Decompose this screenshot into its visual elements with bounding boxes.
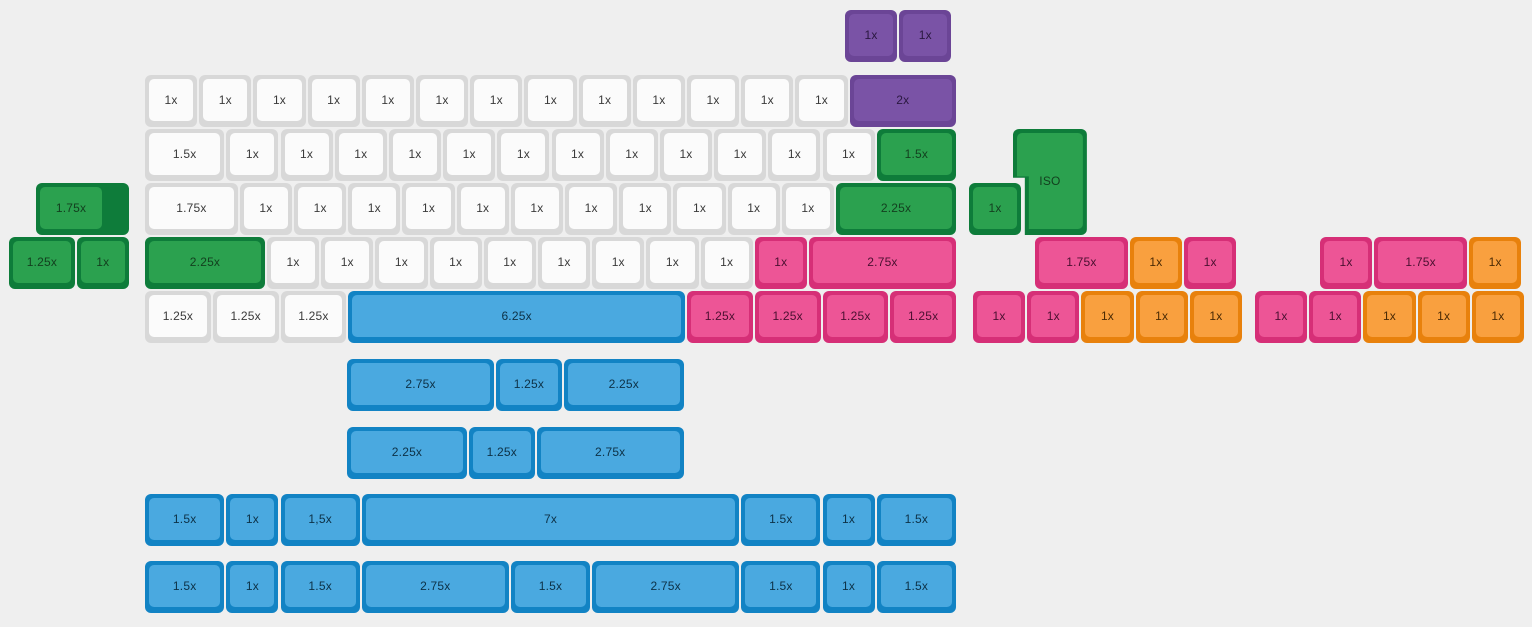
key-1x-cap-face: 1x xyxy=(1134,241,1178,283)
key-2-75x[interactable]: 2.75x xyxy=(592,561,739,613)
key-1x-cap-face: 1x xyxy=(1194,295,1238,337)
key-1-25x-cap-face: 1.25x xyxy=(691,295,749,337)
key-1x-cap-face: 1x xyxy=(827,565,871,607)
key-2-75x-cap-face: 2.75x xyxy=(596,565,735,607)
key-1x[interactable]: 1x xyxy=(470,75,522,127)
key-1-25x-cap-face: 1.25x xyxy=(217,295,275,337)
key-1-75x[interactable]: 1.75x xyxy=(1035,237,1128,289)
key-1x[interactable]: 1x xyxy=(633,75,685,127)
key-2x[interactable]: 2x xyxy=(850,75,956,127)
key-1-25x[interactable]: 1.25x xyxy=(496,359,562,411)
key-1x-cap-face: 1x xyxy=(650,241,694,283)
key-1x[interactable]: 1x xyxy=(375,237,427,289)
key-1x[interactable]: 1x xyxy=(1309,291,1361,343)
key-1x[interactable]: 1x xyxy=(538,237,590,289)
key-2-25x[interactable]: 2.25x xyxy=(836,183,956,235)
key-1x-cap-face: 1x xyxy=(285,133,329,175)
key-1x-cap-face: 1x xyxy=(366,79,410,121)
key-1-25x-cap-face: 1.25x xyxy=(149,295,207,337)
key-1x-cap-face: 1x xyxy=(973,187,1017,229)
key-1x-cap-face: 1x xyxy=(1031,295,1075,337)
key-1x[interactable]: 1x xyxy=(497,129,549,181)
key-1x[interactable]: 1x xyxy=(1320,237,1372,289)
key-1-5x-cap-face: 1.5x xyxy=(515,565,586,607)
key-1x-cap-face: 1x xyxy=(903,14,947,56)
key-1x-cap-face: 1x xyxy=(1476,295,1520,337)
key-1-25x[interactable]: 1.25x xyxy=(9,237,75,289)
key-1x[interactable]: 1x xyxy=(145,75,197,127)
key-2x-cap-face: 2x xyxy=(854,79,952,121)
key-1x-cap-face: 1x xyxy=(379,241,423,283)
key-1-25x[interactable]: 1.25x xyxy=(145,291,211,343)
key-1x-cap-face: 1x xyxy=(718,133,762,175)
key-1x-cap-face: 1x xyxy=(849,14,893,56)
key-1x-cap-face: 1x xyxy=(474,79,518,121)
key-1-5x[interactable]: 1.5x xyxy=(877,561,956,613)
key-1x-cap-face: 1x xyxy=(583,79,627,121)
key-1-5x[interactable]: 1.5x xyxy=(511,561,590,613)
key-1x[interactable]: 1x xyxy=(741,75,793,127)
key-1x[interactable]: 1x xyxy=(457,183,509,235)
key-1x[interactable]: 1x xyxy=(728,183,780,235)
key-1x-cap-face: 1x xyxy=(325,241,369,283)
key-1x-cap-face: 1x xyxy=(1188,241,1232,283)
key-1x-cap-face: 1x xyxy=(312,79,356,121)
key-1x[interactable]: 1x xyxy=(308,75,360,127)
key-1-25x-cap-face: 1.25x xyxy=(827,295,885,337)
key-1x[interactable]: 1x xyxy=(1418,291,1470,343)
key-1x[interactable]: 1x xyxy=(253,75,305,127)
key-1-25x[interactable]: 1.25x xyxy=(469,427,535,479)
key-1x-cap-face: 1x xyxy=(339,133,383,175)
key-1x-cap-face: 1x xyxy=(1313,295,1357,337)
key-1-5x-cap-face: 1.5x xyxy=(149,498,220,540)
key-1x[interactable]: 1x xyxy=(552,129,604,181)
key-1x[interactable]: 1x xyxy=(592,237,644,289)
key-1x[interactable]: 1x xyxy=(579,75,631,127)
key-1x-cap-face: 1x xyxy=(637,79,681,121)
key-1-75x-stepped[interactable]: 1.75x xyxy=(36,183,129,235)
key-1x[interactable]: 1x xyxy=(823,129,875,181)
key-1x[interactable]: 1x xyxy=(795,75,847,127)
key-1-5x-cap-face: 1.5x xyxy=(881,133,952,175)
key-1x-cap-face: 1x xyxy=(230,498,274,540)
key-1x[interactable]: 1x xyxy=(511,183,563,235)
key-1x-cap-face: 1x xyxy=(664,133,708,175)
key-1x[interactable]: 1x xyxy=(660,129,712,181)
key-1x-cap-face: 1x xyxy=(1259,295,1303,337)
key-1x-cap-face: 1x xyxy=(420,79,464,121)
key-1-25x-cap-face: 1.25x xyxy=(13,241,71,283)
key-1x-cap-face: 1x xyxy=(244,187,288,229)
key-2-25x[interactable]: 2.25x xyxy=(145,237,265,289)
key-2-75x-cap-face: 2.75x xyxy=(351,363,490,405)
key-1-75x-cap-face: 1.75x xyxy=(1378,241,1463,283)
key-1-75x[interactable]: 1.75x xyxy=(1374,237,1467,289)
key-2-75x[interactable]: 2.75x xyxy=(537,427,684,479)
key-1x[interactable]: 1x xyxy=(267,237,319,289)
key-1x[interactable]: 1x xyxy=(281,129,333,181)
key-1-5x[interactable]: 1.5x xyxy=(741,494,820,546)
key-1x-cap-face: 1x xyxy=(556,133,600,175)
key-1-25x-cap-face: 1.25x xyxy=(894,295,952,337)
key-1x[interactable]: 1x xyxy=(1472,291,1524,343)
key-2-75x-cap-face: 2.75x xyxy=(813,241,952,283)
key-7x-cap-face: 7x xyxy=(366,498,735,540)
key-1-5x[interactable]: 1,5x xyxy=(281,494,360,546)
key-1x[interactable]: 1x xyxy=(1081,291,1133,343)
key-1-25x-cap-face: 1.25x xyxy=(473,431,531,473)
key-1x-cap-face: 1x xyxy=(1422,295,1466,337)
key-1x[interactable]: 1x xyxy=(199,75,251,127)
key-2-25x[interactable]: 2.25x xyxy=(347,427,467,479)
key-1x[interactable]: 1x xyxy=(823,561,875,613)
key-1-5x-cap-face: 1.5x xyxy=(745,498,816,540)
key-6-25x-cap-face: 6.25x xyxy=(352,295,681,337)
key-2-25x-cap-face: 2.25x xyxy=(840,187,952,229)
key-1-75x[interactable]: 1.75x xyxy=(145,183,238,235)
key-1x[interactable]: 1x xyxy=(1363,291,1415,343)
key-1x[interactable]: 1x xyxy=(226,561,278,613)
key-1x-cap-face: 1x xyxy=(447,133,491,175)
key-1x[interactable]: 1x xyxy=(1190,291,1242,343)
key-1x[interactable]: 1x xyxy=(1184,237,1236,289)
key-2-25x-cap-face: 2.25x xyxy=(568,363,680,405)
key-1x[interactable]: 1x xyxy=(1255,291,1307,343)
key-1-5x[interactable]: 1.5x xyxy=(877,129,956,181)
key-1x[interactable]: 1x xyxy=(606,129,658,181)
key-1x-cap-face: 1x xyxy=(542,241,586,283)
key-1x-cap-face: 1x xyxy=(406,187,450,229)
key-1x[interactable]: 1x xyxy=(443,129,495,181)
key-1x-cap-face: 1x xyxy=(203,79,247,121)
key-1x[interactable]: 1x xyxy=(226,494,278,546)
key-1x[interactable]: 1x xyxy=(768,129,820,181)
key-1x[interactable]: 1x xyxy=(1469,237,1521,289)
key-1x[interactable]: 1x xyxy=(484,237,536,289)
key-1x-cap-face: 1x xyxy=(230,133,274,175)
key-1x-cap-face: 1x xyxy=(1085,295,1129,337)
key-1x-cap-face: 1x xyxy=(515,187,559,229)
key-1-25x[interactable]: 1.25x xyxy=(281,291,347,343)
key-1-25x-cap-face: 1.25x xyxy=(759,295,817,337)
key-1x-cap-face: 1x xyxy=(799,79,843,121)
key-1x-cap-face: 1x xyxy=(677,187,721,229)
key-1x[interactable]: 1x xyxy=(226,129,278,181)
key-1x-cap-face: 1x xyxy=(1140,295,1184,337)
key-1x[interactable]: 1x xyxy=(845,10,897,62)
key-1-5x[interactable]: 1.5x xyxy=(145,494,224,546)
key-1-5x[interactable]: 1.5x xyxy=(281,561,360,613)
key-1x-cap-face: 1x xyxy=(352,187,396,229)
key-1x-cap-face: 1x xyxy=(393,133,437,175)
key-1-25x[interactable]: 1.25x xyxy=(213,291,279,343)
key-1x[interactable]: 1x xyxy=(899,10,951,62)
key-1-5x-cap-face: 1.5x xyxy=(149,565,220,607)
key-1-5x[interactable]: 1.5x xyxy=(145,129,224,181)
key-1x-cap-face: 1x xyxy=(610,133,654,175)
key-1x-cap-face: 1x xyxy=(230,565,274,607)
key-1x-cap-face: 1x xyxy=(759,241,803,283)
key-1-25x[interactable]: 1.25x xyxy=(755,291,821,343)
key-1x[interactable]: 1x xyxy=(755,237,807,289)
key-6-25x[interactable]: 6.25x xyxy=(348,291,685,343)
key-2-75x-cap-face: 2.75x xyxy=(366,565,505,607)
key-1x[interactable]: 1x xyxy=(77,237,129,289)
key-2-75x[interactable]: 2.75x xyxy=(362,561,509,613)
key-1x-cap-face: 1x xyxy=(461,187,505,229)
key-1-5x[interactable]: 1.5x xyxy=(741,561,820,613)
key-1x-cap-face: 1x xyxy=(691,79,735,121)
key-1x[interactable]: 1x xyxy=(673,183,725,235)
key-1x[interactable]: 1x xyxy=(646,237,698,289)
key-1x[interactable]: 1x xyxy=(1130,237,1182,289)
key-1x[interactable]: 1x xyxy=(1136,291,1188,343)
key-1-25x[interactable]: 1.25x xyxy=(823,291,889,343)
key-1x-cap-face: 1x xyxy=(434,241,478,283)
key-1x-cap-face: 1x xyxy=(827,133,871,175)
key-1-5x[interactable]: 1.5x xyxy=(145,561,224,613)
key-1-5x-cap-face: 1.5x xyxy=(285,565,356,607)
key-1x[interactable]: 1x xyxy=(973,291,1025,343)
keycap-layout-canvas: 1x1x1x1x1x1x1x1x1x1x1x1x1x1x1x2x1.5x1x1x… xyxy=(0,0,1532,627)
key-1x-cap-face: 1x xyxy=(528,79,572,121)
key-1-5x-cap-face: 1,5x xyxy=(285,498,356,540)
key-2-25x[interactable]: 2.25x xyxy=(564,359,684,411)
key-1x[interactable]: 1x xyxy=(335,129,387,181)
key-1x-cap-face: 1x xyxy=(977,295,1021,337)
key-1x-cap-face: 1x xyxy=(705,241,749,283)
key-7x[interactable]: 7x xyxy=(362,494,739,546)
key-1-5x-cap-face: 1.5x xyxy=(745,565,816,607)
key-1-25x[interactable]: 1.25x xyxy=(687,291,753,343)
key-1x[interactable]: 1x xyxy=(240,183,292,235)
key-1x-cap-face: 1x xyxy=(488,241,532,283)
key-1x-cap-face: 1x xyxy=(732,187,776,229)
key-1x[interactable]: 1x xyxy=(565,183,617,235)
key-1x-cap-face: 1x xyxy=(1473,241,1517,283)
key-1-75x-cap-face: 1.75x xyxy=(1039,241,1124,283)
key-1x[interactable]: 1x xyxy=(969,183,1021,235)
key-1x[interactable]: 1x xyxy=(714,129,766,181)
key-1x-cap-face: 1x xyxy=(271,241,315,283)
key-1x-cap-face: 1x xyxy=(623,187,667,229)
key-1x-cap-face: 1x xyxy=(501,133,545,175)
key-iso-enter[interactable]: ISO xyxy=(1013,129,1087,235)
key-1x-cap-face: 1x xyxy=(1324,241,1368,283)
key-1x[interactable]: 1x xyxy=(524,75,576,127)
key-1-5x[interactable]: 1.5x xyxy=(877,494,956,546)
key-1x-cap-face: 1x xyxy=(596,241,640,283)
key-1x[interactable]: 1x xyxy=(321,237,373,289)
key-1x[interactable]: 1x xyxy=(782,183,834,235)
key-1x[interactable]: 1x xyxy=(701,237,753,289)
key-1x[interactable]: 1x xyxy=(619,183,671,235)
key-1-75x-cap-face: 1.75x xyxy=(149,187,234,229)
key-1x[interactable]: 1x xyxy=(687,75,739,127)
key-1x[interactable]: 1x xyxy=(348,183,400,235)
key-2-25x-cap-face: 2.25x xyxy=(149,241,261,283)
key-2-75x[interactable]: 2.75x xyxy=(809,237,956,289)
key-1-25x-cap-face: 1.25x xyxy=(500,363,558,405)
key-1-5x-cap-face: 1.5x xyxy=(881,498,952,540)
key-1x-cap-face: 1x xyxy=(149,79,193,121)
key-1-75x-stepped-cap-face: 1.75x xyxy=(40,187,102,229)
key-1x-cap-face: 1x xyxy=(786,187,830,229)
key-1x-cap-face: 1x xyxy=(827,498,871,540)
key-1x[interactable]: 1x xyxy=(416,75,468,127)
key-1x-cap-face: 1x xyxy=(1367,295,1411,337)
key-1x[interactable]: 1x xyxy=(389,129,441,181)
key-1x-cap-face: 1x xyxy=(745,79,789,121)
key-1x[interactable]: 1x xyxy=(823,494,875,546)
key-1x-cap-face: 1x xyxy=(298,187,342,229)
key-1x[interactable]: 1x xyxy=(294,183,346,235)
key-1-25x-cap-face: 1.25x xyxy=(285,295,343,337)
key-iso-enter-cap-face: ISO xyxy=(1017,133,1083,229)
key-1x[interactable]: 1x xyxy=(362,75,414,127)
key-1x-cap-face: 1x xyxy=(772,133,816,175)
key-1-5x-cap-face: 1.5x xyxy=(881,565,952,607)
key-1x[interactable]: 1x xyxy=(430,237,482,289)
key-1x-cap-face: 1x xyxy=(569,187,613,229)
key-1x[interactable]: 1x xyxy=(1027,291,1079,343)
key-1-25x[interactable]: 1.25x xyxy=(890,291,956,343)
key-1x[interactable]: 1x xyxy=(402,183,454,235)
key-1x-cap-face: 1x xyxy=(257,79,301,121)
key-2-75x-cap-face: 2.75x xyxy=(541,431,680,473)
key-1x-cap-face: 1x xyxy=(81,241,125,283)
key-2-25x-cap-face: 2.25x xyxy=(351,431,463,473)
key-1-5x-cap-face: 1.5x xyxy=(149,133,220,175)
key-2-75x[interactable]: 2.75x xyxy=(347,359,494,411)
